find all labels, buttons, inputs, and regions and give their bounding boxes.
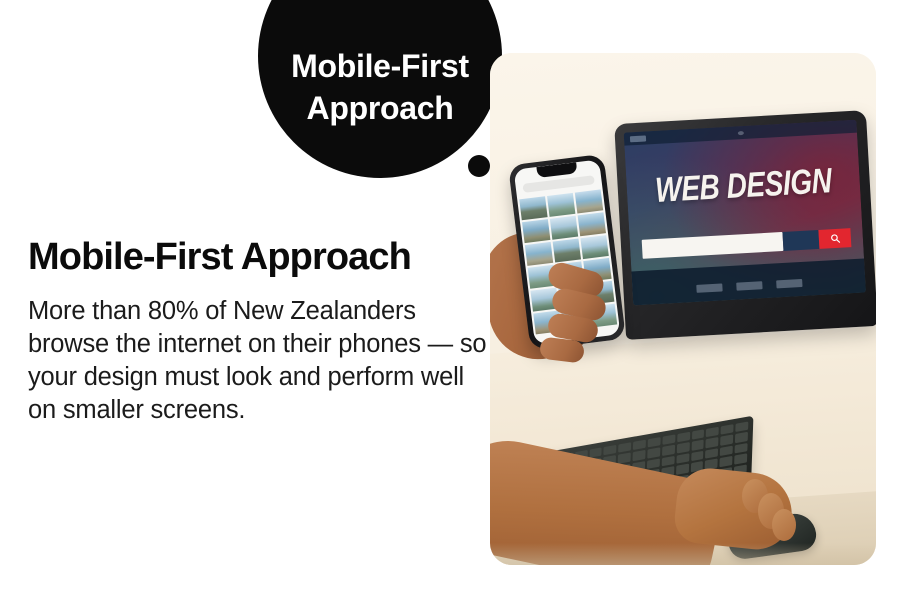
browser-tab — [630, 135, 646, 142]
key — [618, 442, 631, 453]
key — [662, 434, 675, 445]
hand-fingers — [490, 215, 624, 385]
key — [647, 458, 660, 469]
search-icon — [829, 233, 841, 245]
key — [706, 427, 719, 438]
badge-accent-dot — [468, 155, 490, 177]
key — [691, 451, 704, 462]
phone-address-bar — [522, 175, 595, 193]
key — [618, 453, 631, 464]
screen-search-segment — [782, 230, 819, 251]
key — [735, 432, 748, 443]
panel-bottom-shadow — [490, 543, 876, 565]
footer-chip-group — [632, 275, 865, 296]
key — [720, 456, 733, 467]
key — [735, 422, 748, 433]
footer-chip — [736, 281, 762, 290]
slide-canvas: Mobile-First Approach Mobile-First Appro… — [0, 0, 900, 600]
monitor-screen: WEB DESIGN — [624, 120, 866, 306]
screen-search-row — [642, 228, 852, 259]
key — [721, 424, 734, 435]
screen-search-input — [642, 232, 784, 259]
page-title: Mobile-First Approach — [28, 236, 490, 279]
key — [705, 448, 718, 459]
screen-search-button — [818, 228, 851, 249]
key — [735, 443, 748, 454]
key — [677, 432, 690, 443]
webcam-icon — [737, 131, 743, 135]
text-column: Mobile-First Approach More than 80% of N… — [28, 236, 490, 427]
badge-label: Mobile-First Approach — [273, 45, 488, 129]
key — [662, 445, 675, 456]
key — [676, 464, 689, 475]
key — [691, 440, 704, 451]
key — [720, 435, 733, 446]
key — [706, 437, 719, 448]
key — [734, 453, 747, 464]
key — [720, 445, 733, 456]
screen-title: WEB DESIGN — [649, 161, 837, 211]
key — [604, 445, 617, 456]
key — [691, 429, 704, 440]
key — [676, 442, 689, 453]
key — [633, 450, 646, 461]
body-paragraph: More than 80% of New Zealanders browse t… — [28, 295, 490, 427]
footer-chip — [696, 283, 722, 292]
key — [633, 440, 646, 451]
key — [648, 437, 661, 448]
badge-circle: Mobile-First Approach — [258, 0, 502, 178]
finger-knuckle — [772, 509, 796, 541]
desktop-monitor: WEB DESIGN — [614, 110, 876, 340]
footer-chip — [776, 279, 802, 288]
key — [661, 456, 674, 467]
key — [647, 448, 660, 459]
gallery-thumbnail — [574, 189, 603, 213]
key — [676, 453, 689, 464]
gallery-thumbnail — [547, 193, 576, 217]
photo-panel: WEB DESIGN — [490, 53, 876, 565]
